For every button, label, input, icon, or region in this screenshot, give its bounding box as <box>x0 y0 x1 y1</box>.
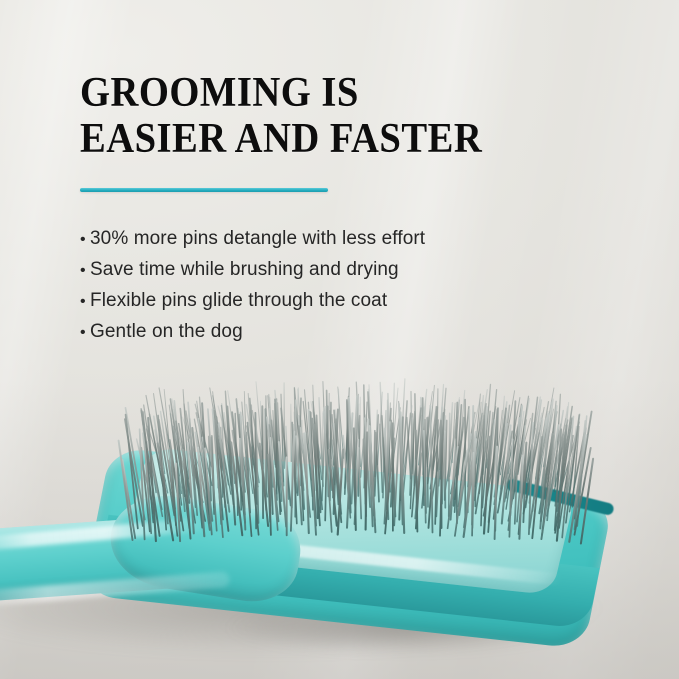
teal-divider-rule <box>80 188 328 192</box>
brush-handle <box>0 508 260 618</box>
list-item-label: Save time while brushing and drying <box>90 255 600 285</box>
list-item: • Save time while brushing and drying <box>80 255 600 286</box>
list-item: • Flexible pins glide through the coat <box>80 286 600 317</box>
bullet-marker-icon: • <box>80 256 90 286</box>
list-item: • 30% more pins detangle with less effor… <box>80 224 600 255</box>
list-item-label: Flexible pins glide through the coat <box>90 286 600 316</box>
benefit-list: • 30% more pins detangle with less effor… <box>80 224 600 348</box>
bullet-marker-icon: • <box>80 225 90 255</box>
copy-block: GROOMING IS EASIER AND FASTER • 30% more… <box>80 70 600 348</box>
bullet-marker-icon: • <box>80 318 90 348</box>
headline: GROOMING IS EASIER AND FASTER <box>80 70 558 162</box>
list-item: • Gentle on the dog <box>80 317 600 348</box>
product-marketing-image: GROOMING IS EASIER AND FASTER • 30% more… <box>0 0 679 679</box>
list-item-label: 30% more pins detangle with less effort <box>90 224 600 254</box>
list-item-label: Gentle on the dog <box>90 317 600 347</box>
bullet-marker-icon: • <box>80 287 90 317</box>
